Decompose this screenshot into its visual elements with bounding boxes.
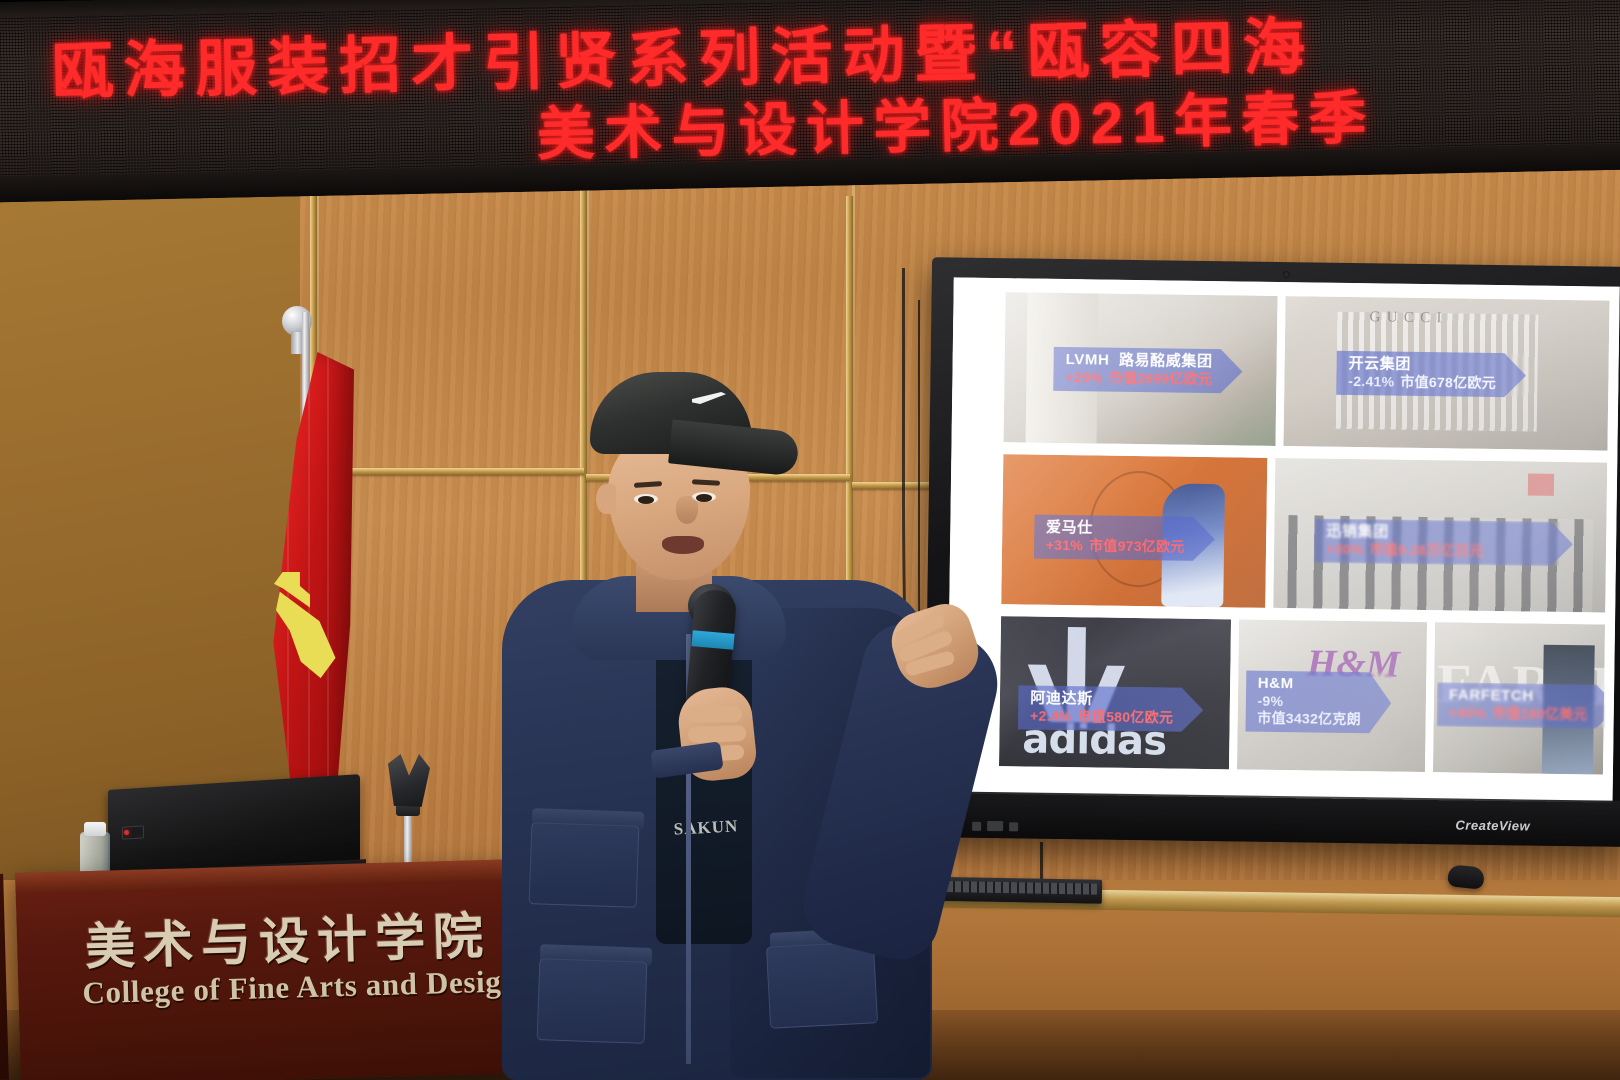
laptop-indicator-dot (124, 830, 129, 835)
chest-pocket (529, 822, 640, 908)
callout-stats: +40%市值180亿美元 (1449, 705, 1588, 724)
callout-stats: +31%市值973亿欧元 (1046, 537, 1185, 556)
callout-fastretailing: 迅销集团 +30%市值9.28万亿日元 (1314, 518, 1573, 566)
slide-tile-adidas: adidas 阿迪达斯 +2.4%市值580亿欧元 (999, 616, 1231, 769)
display-brand-label: CreateView (1455, 817, 1530, 833)
nose (676, 496, 698, 524)
callout-stats: -2.41%市值678亿欧元 (1348, 373, 1496, 392)
callout-brand-and-name: FARFETCH (1449, 686, 1588, 706)
slide-row: adidas 阿迪达斯 +2.4%市值580亿欧元 H&M (999, 616, 1605, 774)
display-chin: CreateView (924, 791, 1620, 847)
callout-stats: -9% (1257, 693, 1361, 712)
hammer-sickle-icon (268, 558, 346, 690)
callout-farfetch: FARFETCH +40%市值180亿美元 (1437, 682, 1605, 729)
mouth (662, 536, 704, 554)
gucci-wordmark: GUCCI (1369, 309, 1447, 327)
slide-tile-farfetch: FARFETCH FARFETCH +40%市值180亿美元 (1433, 622, 1606, 774)
slide-row: LVMH 路易酩威集团 +29%市值2699亿欧元 GUCCI 开云集团 (1004, 292, 1610, 450)
slide-tile-fastretailing: 迅销集团 +30%市值9.28万亿日元 (1274, 458, 1608, 613)
bottle-cap (84, 822, 106, 836)
callout-brand-and-name: H&M (1258, 675, 1362, 695)
callout-stats: +29%市值2699亿欧元 (1065, 369, 1212, 388)
wall-fabric-panel (0, 160, 318, 880)
callout-stats: +30%市值9.28万亿日元 (1326, 541, 1543, 561)
callout-market-value: 市值3432亿克朗 (1257, 710, 1361, 729)
callout-brand-and-name: 爱马仕 (1046, 519, 1185, 539)
slide-tile-hm: H&M H&M -9% 市值3432亿克朗 (1237, 619, 1427, 772)
callout-brand-and-name: 开云集团 (1348, 355, 1496, 375)
lower-pocket (537, 958, 648, 1044)
slide-tile-lvmh: LVMH 路易酩威集团 +29%市值2699亿欧元 (1004, 292, 1278, 446)
right-pocket (766, 941, 878, 1029)
callout-hermes: 爱马仕 +31%市值973亿欧元 (1034, 515, 1216, 562)
callout-kering: 开云集团 -2.41%市值678亿欧元 (1336, 351, 1526, 398)
interactive-display[interactable]: LVMH 路易酩威集团 +29%市值2699亿欧元 GUCCI 开云集团 (924, 257, 1620, 847)
slide-tile-hermes: 爱马仕 +31%市值973亿欧元 (1001, 454, 1267, 608)
speaker: SAKUN (480, 358, 1000, 1080)
led-banner: 瓯海服装招才引贤系列活动暨“瓯容四海 美术与设计学院2021年春季 (0, 0, 1620, 203)
lecture-hall-scene: 瓯海服装招才引贤系列活动暨“瓯容四海 美术与设计学院2021年春季 美术与设计学… (0, 0, 1620, 1080)
callout-lvmh: LVMH 路易酩威集团 +29%市值2699亿欧元 (1053, 347, 1243, 394)
callout-brand-and-name: 阿迪达斯 (1030, 690, 1173, 710)
slide-row: 爱马仕 +31%市值973亿欧元 迅销集团 (1001, 454, 1607, 612)
callout-adidas: 阿迪达斯 +2.4%市值580亿欧元 (1018, 685, 1204, 732)
callout-hm: H&M -9% 市值3432亿克朗 (1245, 671, 1392, 734)
slide-tile-kering: GUCCI 开云集团 -2.41%市值678亿欧元 (1284, 296, 1610, 451)
callout-stats: +2.4%市值580亿欧元 (1030, 708, 1173, 727)
display-panel: LVMH 路易酩威集团 +29%市值2699亿欧元 GUCCI 开云集团 (947, 277, 1620, 802)
callout-brand-and-name: LVMH 路易酩威集团 (1065, 351, 1212, 371)
camera-dot-icon (1283, 271, 1290, 278)
podium: 美术与设计学院 College of Fine Arts and Design (15, 859, 531, 1080)
presentation-slide: LVMH 路易酩威集团 +29%市值2699亿欧元 GUCCI 开云集团 (947, 277, 1620, 802)
